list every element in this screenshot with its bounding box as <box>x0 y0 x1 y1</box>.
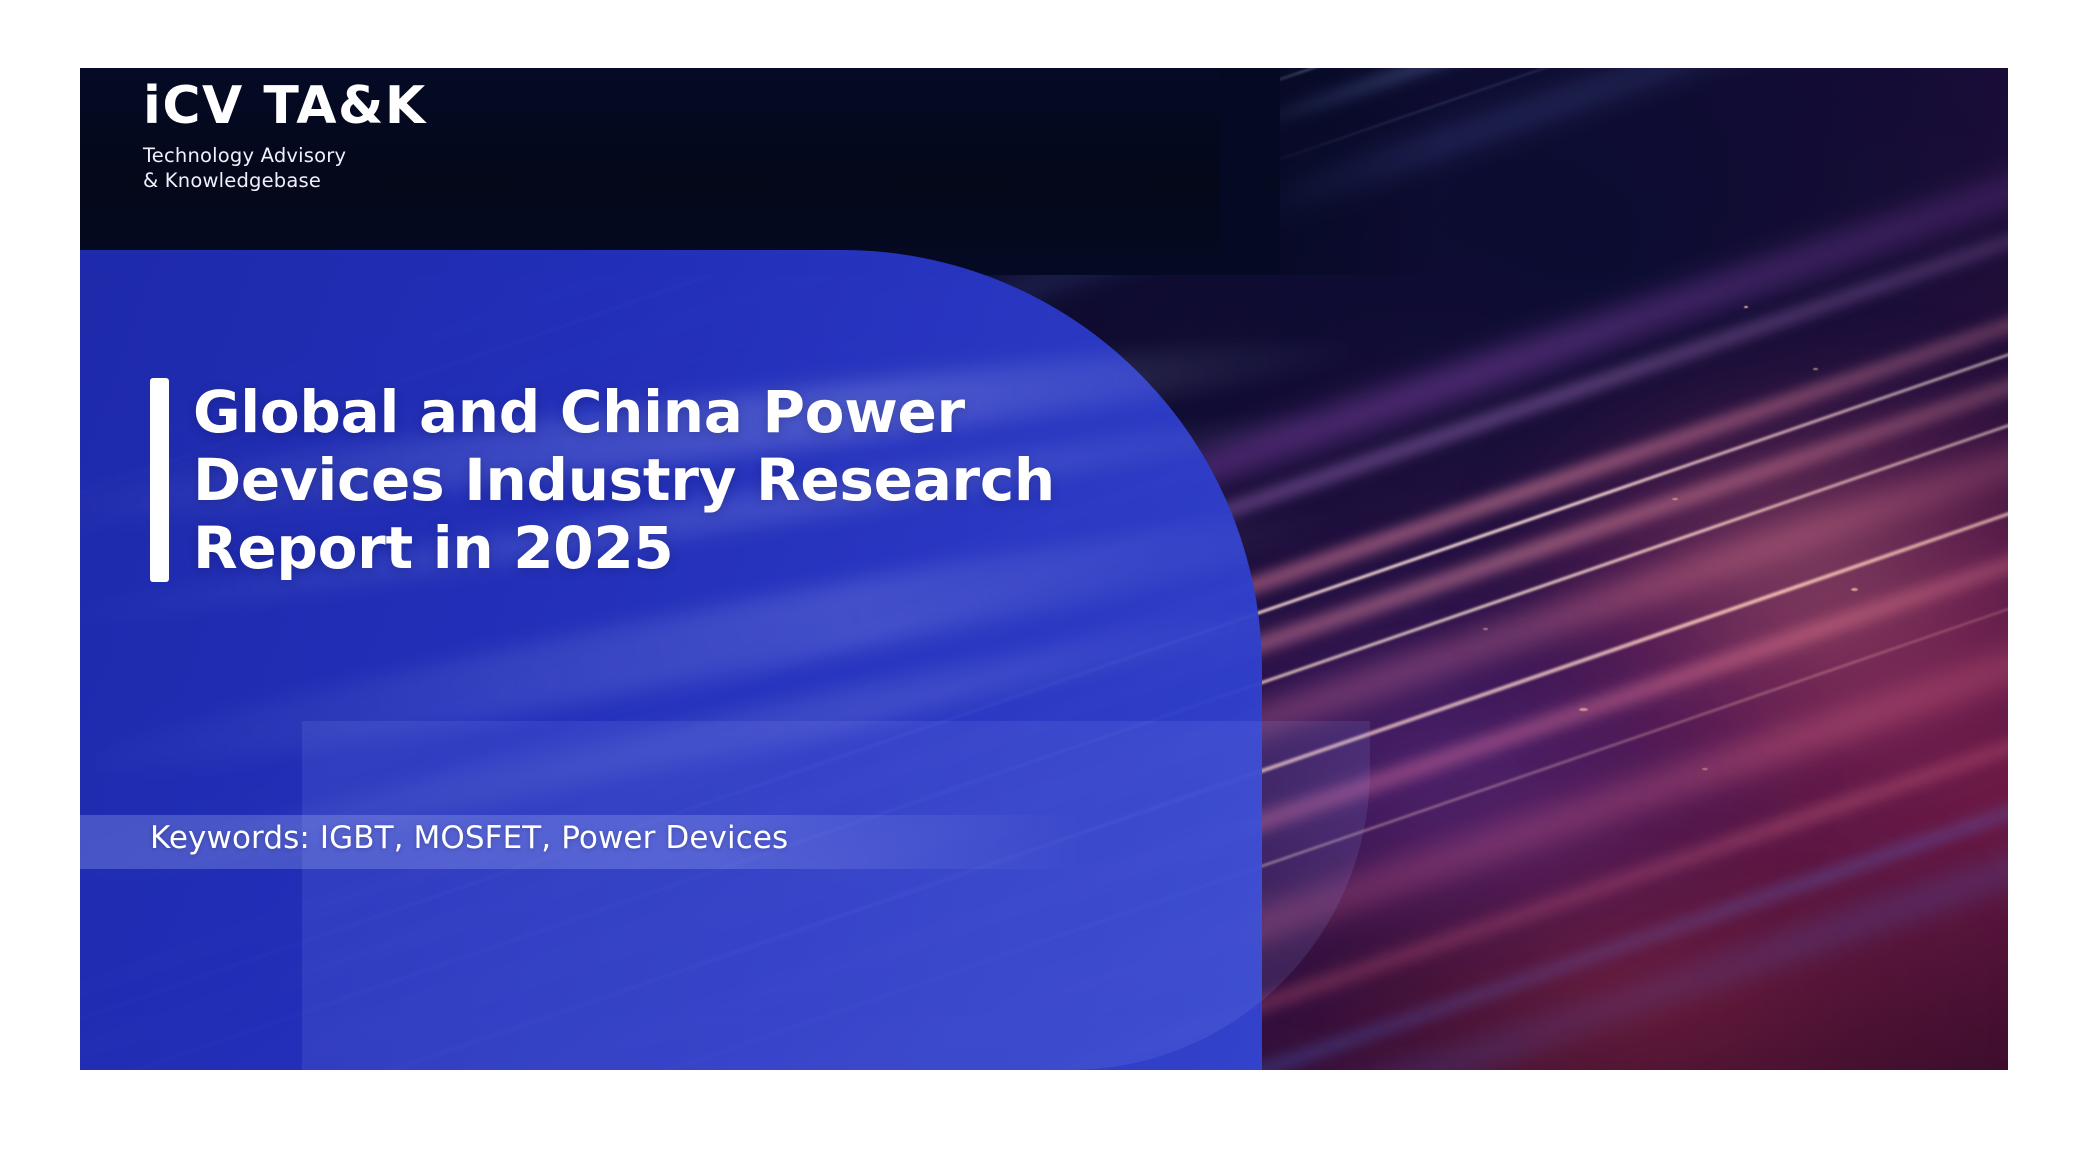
glow-warm-right <box>1508 368 2008 798</box>
brand-logo: iCV TA&K Technology Advisory & Knowledge… <box>143 80 427 194</box>
sparkle-dot <box>1579 708 1588 711</box>
logo-tagline: Technology Advisory & Knowledgebase <box>143 144 427 194</box>
sparkle-dot <box>1851 588 1858 591</box>
lower-accent-panel <box>302 721 1370 1070</box>
page-title: Global and China Power Devices Industry … <box>193 378 1055 582</box>
sparkle-dot <box>1813 368 1818 370</box>
sparkle-dot <box>1702 768 1708 770</box>
logo-wordmark: iCV TA&K <box>143 80 427 132</box>
sparkle-dot <box>1483 628 1488 630</box>
glow-warm-bottom <box>1268 790 1968 1070</box>
sparkle-dot <box>1744 306 1748 308</box>
report-cover-slide: iCV TA&K Technology Advisory & Knowledge… <box>80 68 2008 1070</box>
title-block: Global and China Power Devices Industry … <box>150 378 1055 582</box>
sparkle-dot <box>1672 498 1678 500</box>
keywords-line: Keywords: IGBT, MOSFET, Power Devices <box>150 820 788 856</box>
title-accent-bar <box>150 378 169 582</box>
